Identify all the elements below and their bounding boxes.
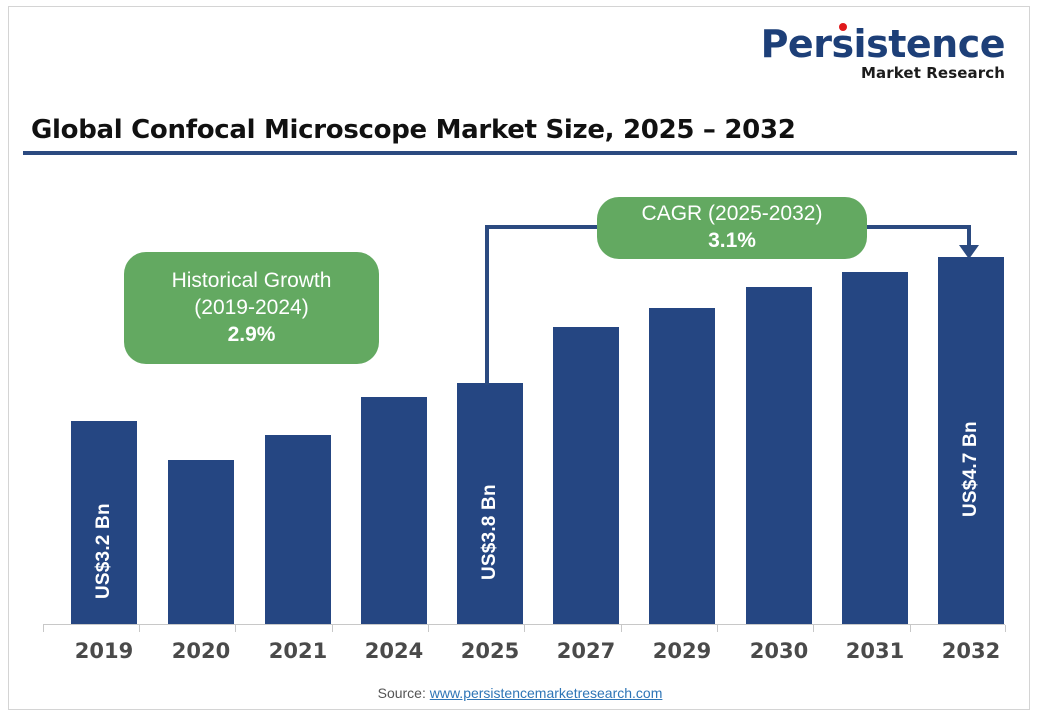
cagr-line1: CAGR (2025-2032) [642,200,823,227]
axis-tick [139,625,140,632]
cagr-value: 3.1% [708,227,756,255]
x-axis-label-2031: 2031 [842,639,908,663]
bar-2029[interactable] [649,308,715,624]
bar-2030[interactable] [746,287,812,624]
axis-tick [621,625,622,632]
bar-2027[interactable] [553,327,619,624]
bar-2021[interactable] [265,435,331,624]
axis-tick [910,625,911,632]
axis-tick [235,625,236,632]
bar-label-2025: US$3.8 Bn [479,418,501,580]
x-axis-label-2024: 2024 [361,639,427,663]
bar-2032[interactable]: US$4.7 Bn [938,257,1004,624]
axis-tick [813,625,814,632]
bar-2019[interactable]: US$3.2 Bn [71,421,137,624]
cagr-connector-left-horizontal [485,225,615,229]
source-link[interactable]: www.persistencemarketresearch.com [430,685,663,701]
x-axis-label-2021: 2021 [265,639,331,663]
cagr-connector-right-horizontal [854,225,971,229]
bar-2024[interactable] [361,397,427,624]
bar-2031[interactable] [842,272,908,624]
x-axis-label-2020: 2020 [168,639,234,663]
axis-tick [43,625,44,632]
bar-label-2019: US$3.2 Bn [93,437,115,599]
axis-tick [524,625,525,632]
historical-growth-value: 2.9% [228,321,276,349]
historical-growth-callout: Historical Growth (2019-2024) 2.9% [124,252,379,364]
cagr-callout: CAGR (2025-2032) 3.1% [597,197,867,259]
x-axis-label-2027: 2027 [553,639,619,663]
historical-growth-line1: Historical Growth [172,267,332,294]
bar-2020[interactable] [168,460,234,624]
cagr-connector-right-vertical [967,225,971,247]
x-axis-label-2029: 2029 [649,639,715,663]
source-footer: Source: www.persistencemarketresearch.co… [9,685,1031,701]
x-axis-label-2025: 2025 [457,639,523,663]
axis-tick [1005,625,1006,632]
cagr-connector-left-vertical [485,225,489,385]
axis-tick [428,625,429,632]
bar-chart: US$3.2 Bn US$3.8 Bn US$4.7 Bn [9,7,1031,711]
bar-2025[interactable]: US$3.8 Bn [457,383,523,624]
cagr-arrowhead-icon [959,245,979,259]
chart-card: Persistence Market Research Global Confo… [8,6,1030,710]
axis-tick [332,625,333,632]
x-axis-label-2032: 2032 [938,639,1004,663]
x-axis-label-2019: 2019 [71,639,137,663]
axis-tick [717,625,718,632]
x-axis-label-2030: 2030 [746,639,812,663]
historical-growth-line2: (2019-2024) [194,294,308,321]
source-label: Source: [378,685,430,701]
bar-label-2032: US$4.7 Bn [960,355,982,517]
